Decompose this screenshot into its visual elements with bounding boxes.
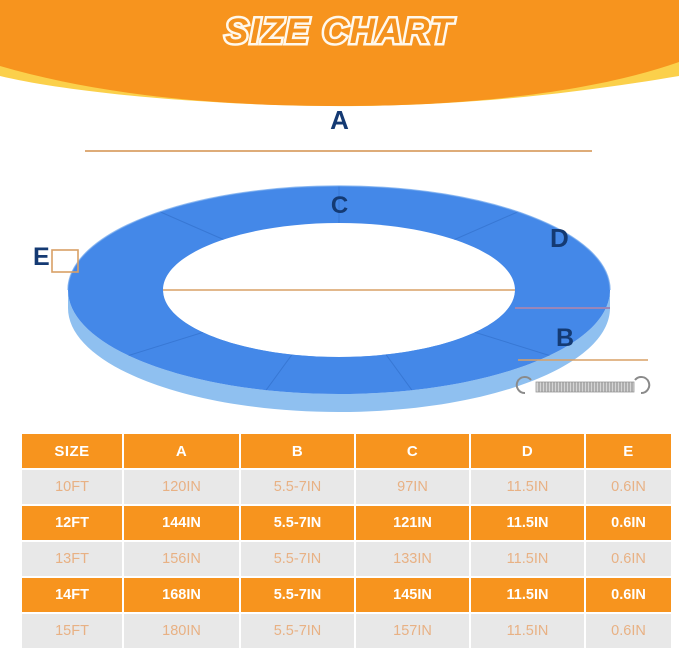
column-header-d: D: [471, 434, 584, 468]
cell-e: 0.6IN: [586, 578, 671, 612]
cell-c: 133IN: [356, 542, 469, 576]
size-chart-page: SIZE CHART: [0, 0, 679, 666]
cell-size: 14FT: [22, 578, 122, 612]
cell-c: 97IN: [356, 470, 469, 504]
cell-b: 5.5-7IN: [241, 542, 354, 576]
cell-b: 5.5-7IN: [241, 506, 354, 540]
column-header-b: B: [241, 434, 354, 468]
cell-a: 156IN: [124, 542, 239, 576]
size-table-container: SIZE A B C D E 10FT 120IN 5.5-7IN 97IN 1…: [20, 432, 661, 650]
cell-d: 11.5IN: [471, 578, 584, 612]
header-banner: SIZE CHART: [0, 0, 679, 150]
cell-b: 5.5-7IN: [241, 614, 354, 648]
cell-a: 120IN: [124, 470, 239, 504]
cell-c: 121IN: [356, 506, 469, 540]
cell-c: 145IN: [356, 578, 469, 612]
size-table: SIZE A B C D E 10FT 120IN 5.5-7IN 97IN 1…: [20, 432, 673, 650]
cell-d: 11.5IN: [471, 470, 584, 504]
cell-a: 168IN: [124, 578, 239, 612]
cell-e: 0.6IN: [586, 542, 671, 576]
cell-e: 0.6IN: [586, 614, 671, 648]
table-row: 15FT 180IN 5.5-7IN 157IN 11.5IN 0.6IN: [22, 614, 671, 648]
column-header-c: C: [356, 434, 469, 468]
trampoline-spring: [517, 377, 649, 393]
column-header-a: A: [124, 434, 239, 468]
column-header-e: E: [586, 434, 671, 468]
cell-size: 10FT: [22, 470, 122, 504]
cell-b: 5.5-7IN: [241, 578, 354, 612]
cell-size: 12FT: [22, 506, 122, 540]
product-diagram: [0, 150, 679, 425]
table-row: 10FT 120IN 5.5-7IN 97IN 11.5IN 0.6IN: [22, 470, 671, 504]
cell-c: 157IN: [356, 614, 469, 648]
cell-b: 5.5-7IN: [241, 470, 354, 504]
cell-a: 180IN: [124, 614, 239, 648]
table-row: 13FT 156IN 5.5-7IN 133IN 11.5IN 0.6IN: [22, 542, 671, 576]
cell-d: 11.5IN: [471, 614, 584, 648]
cell-d: 11.5IN: [471, 542, 584, 576]
cell-e: 0.6IN: [586, 470, 671, 504]
column-header-size: SIZE: [22, 434, 122, 468]
cell-size: 15FT: [22, 614, 122, 648]
cell-e: 0.6IN: [586, 506, 671, 540]
table-row: 14FT 168IN 5.5-7IN 145IN 11.5IN 0.6IN: [22, 578, 671, 612]
cell-d: 11.5IN: [471, 506, 584, 540]
table-row: 12FT 144IN 5.5-7IN 121IN 11.5IN 0.6IN: [22, 506, 671, 540]
cell-size: 13FT: [22, 542, 122, 576]
table-header-row: SIZE A B C D E: [22, 434, 671, 468]
cell-a: 144IN: [124, 506, 239, 540]
